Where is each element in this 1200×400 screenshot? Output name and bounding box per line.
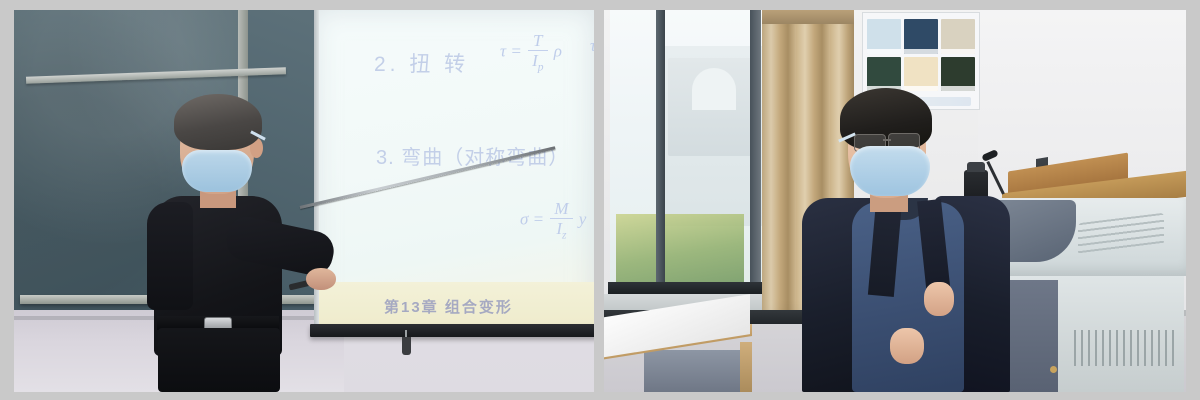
curtain-rod-header	[762, 10, 854, 24]
teacher-glasses-bridge	[883, 139, 891, 141]
formula-bending-denominator: Iz	[550, 219, 572, 242]
student-desk-leg	[740, 342, 752, 392]
podium-door-lock	[1050, 366, 1057, 373]
teacher-left-hand	[890, 328, 924, 364]
lecturer-right-hand	[306, 268, 336, 290]
slide-chapter-banner: 第13章 组合变形	[384, 296, 513, 317]
formula-torsion-tau-2: τx	[590, 36, 594, 58]
left-photo-lecturer: 2. 扭 转 3. 弯曲（对称弯曲） τ = T Ip ρ τx σ = M I…	[14, 10, 594, 392]
formula-bending-tail: y	[579, 210, 587, 229]
formula-torsion-numerator: T	[528, 32, 547, 51]
water-bottle-cap	[967, 162, 985, 172]
lecturer-left-shoulder	[147, 202, 193, 310]
poster-cell-caption	[867, 49, 901, 54]
lecturer-legs	[158, 328, 280, 392]
poster-cell	[867, 57, 901, 92]
formula-torsion-tail: ρ	[554, 42, 562, 61]
poster-cell	[904, 57, 938, 92]
lecturer-face-mask	[182, 150, 252, 192]
poster-cell-caption	[941, 49, 975, 54]
poster-cell-caption	[941, 86, 975, 91]
slide-line-torsion: 2. 扭 转	[374, 48, 469, 78]
window-sill-dark-band	[608, 282, 768, 294]
teacher-face-mask	[850, 146, 930, 196]
poster-cell	[904, 19, 938, 54]
window-frame-right-mullion	[750, 10, 761, 308]
formula-bending-numerator: M	[550, 200, 572, 219]
poster-cell	[941, 19, 975, 54]
photo-collage: 2. 扭 转 3. 弯曲（对称弯曲） τ = T Ip ρ τx σ = M I…	[0, 0, 1200, 400]
window-frame-left-mullion	[656, 10, 665, 308]
poster-cell-caption	[904, 49, 938, 54]
formula-torsion: τ = T Ip ρ	[500, 32, 562, 74]
poster-cell-caption	[904, 86, 938, 91]
formula-bending-lhs: σ =	[520, 210, 544, 229]
tau-symbol: τ	[590, 36, 594, 55]
formula-torsion-fraction: T Ip	[528, 32, 547, 74]
poster-cell	[941, 57, 975, 92]
screen-pull-hook	[402, 337, 411, 355]
lecturer-hair	[174, 94, 262, 150]
formula-bending: σ = M Iz y	[520, 200, 586, 242]
projection-screen-bottom-bar	[310, 324, 594, 337]
podium-lower-vents	[1074, 330, 1178, 366]
student-desk-body	[644, 350, 750, 392]
poster-cell	[867, 19, 901, 54]
formula-bending-fraction: M Iz	[550, 200, 572, 242]
teacher-right-hand	[924, 282, 954, 316]
right-photo-teacher	[604, 10, 1186, 392]
formula-torsion-denominator: Ip	[528, 51, 547, 74]
formula-torsion-lhs: τ =	[500, 42, 522, 61]
window-outside-arch	[692, 68, 736, 110]
poster-image-grid	[867, 19, 975, 91]
